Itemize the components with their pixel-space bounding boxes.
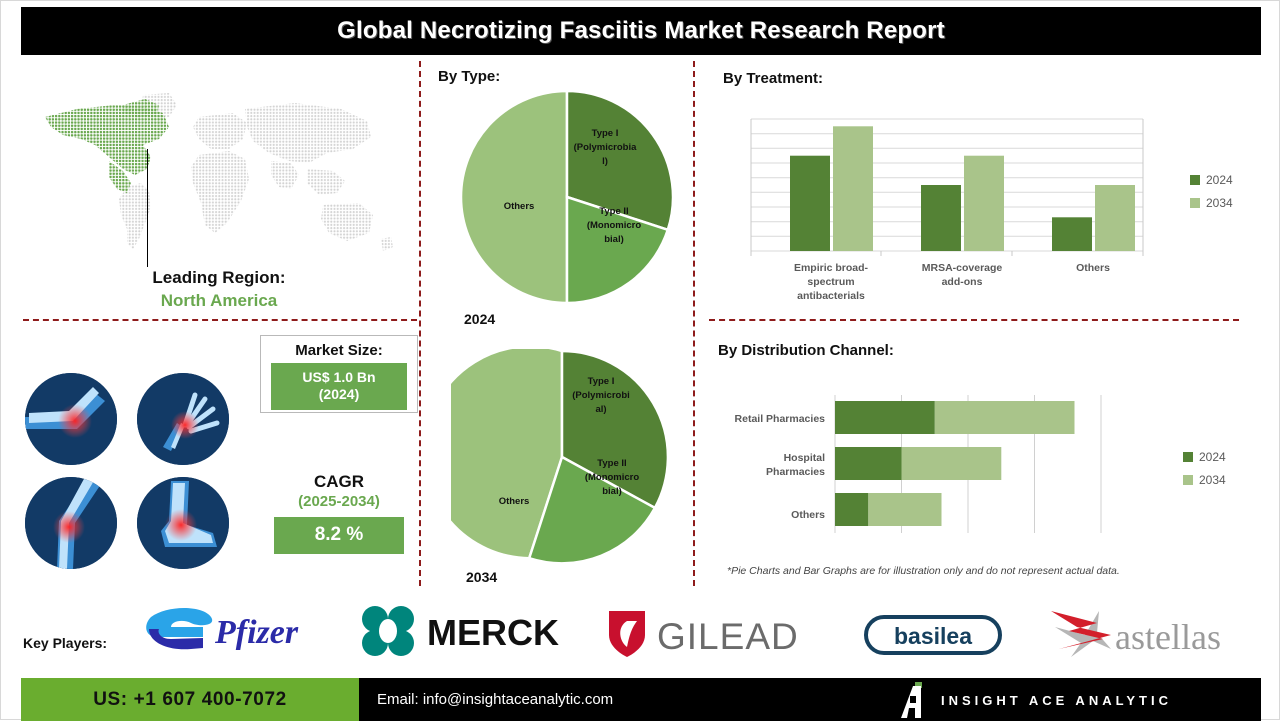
svg-text:bial): bial) [604,234,624,245]
svg-text:add-ons: add-ons [942,276,983,288]
divider-vertical-right [693,61,695,586]
elbow-joint-pain-icon [25,373,117,465]
logo-astellas: astellas [1041,605,1259,659]
infographic-page: Global Necrotizing Fasciitis Market Rese… [0,0,1280,720]
svg-text:Empiric broad-: Empiric broad- [794,262,869,274]
svg-text:Others: Others [499,496,530,507]
leading-region-block: Leading Region: North America [23,267,415,313]
brand-block: INSIGHT ACE ANALYTIC [901,682,1172,718]
svg-text:Retail Pharmacies: Retail Pharmacies [735,413,826,425]
knee-joint-pain-icon [25,477,117,569]
chart-footnote: *Pie Charts and Bar Graphs are for illus… [727,565,1120,577]
world-map-icon [23,83,415,269]
svg-text:l): l) [602,156,608,167]
bar-chart-by-treatment: Empiric broad- spectrum antibacterials M… [743,113,1153,303]
divider-horizontal-right [709,319,1239,321]
pie-chart-by-type-2024: Type I (Polymicrobia l) Type II (Monomic… [459,89,675,305]
logo-basilea: basilea [863,613,1003,657]
svg-text:Hospital: Hospital [784,452,826,464]
svg-text:(Polymicrobi: (Polymicrobi [572,390,630,401]
footer-phone: US: +1 607 400-7072 [93,689,287,711]
market-size-year: (2024) [271,386,407,403]
map-leader-line [147,149,148,267]
svg-text:antibacterials: antibacterials [797,290,865,302]
svg-text:spectrum: spectrum [807,276,854,288]
page-title: Global Necrotizing Fasciitis Market Rese… [337,17,945,45]
svg-text:GILEAD: GILEAD [657,616,799,657]
brand-name: INSIGHT ACE ANALYTIC [941,693,1172,708]
pie-year-2024: 2024 [464,311,495,327]
legend-item-2034: 2034 [1190,196,1233,210]
legend-by-distribution: 2024 2034 [1183,450,1226,496]
leading-region-value: North America [23,289,415,313]
bar-chart-by-distribution: Retail Pharmacies Hospital Pharmacies Ot… [701,391,1121,541]
pie-chart-by-type-2034: Type I (Polymicrobi al) Type II (Monomic… [451,349,673,565]
legend-swatch-2024 [1190,175,1200,185]
joint-illustrations [25,373,239,569]
leading-region-label: Leading Region: [23,267,415,289]
legend-item-2024: 2024 [1190,173,1233,187]
svg-text:MRSA-coverage: MRSA-coverage [922,262,1003,274]
svg-text:Type I: Type I [592,128,619,139]
insight-ace-a-logo [901,682,927,718]
legend-item-2024: 2024 [1183,450,1226,464]
market-size-amount: US$ 1.0 Bn [271,369,407,386]
market-size-card: Market Size: US$ 1.0 Bn (2024) [260,335,418,413]
svg-text:Type II: Type II [597,458,626,469]
svg-text:Others: Others [791,509,825,521]
svg-text:(Polymicrobia: (Polymicrobia [574,142,638,153]
cagr-years: (2025-2034) [260,492,418,512]
svg-text:Type II: Type II [599,206,628,217]
hand-joint-pain-icon [137,373,229,465]
divider-horizontal-left [23,319,417,321]
svg-text:Type I: Type I [588,376,615,387]
market-size-label: Market Size: [261,341,417,360]
legend-item-2034: 2034 [1183,473,1226,487]
legend-swatch-2024 [1183,452,1193,462]
logo-gilead: GILEAD [601,607,813,659]
svg-text:(Monomicro: (Monomicro [585,472,640,483]
svg-text:astellas: astellas [1115,617,1221,657]
legend-swatch-2034 [1190,198,1200,208]
svg-text:Others: Others [1076,262,1110,274]
legend-label-2034: 2034 [1199,473,1226,487]
section-title-by-type: By Type: [438,68,500,85]
svg-text:Pfizer: Pfizer [214,614,299,651]
key-players-label: Key Players: [23,635,107,651]
logo-pfizer: Pfizer [141,603,331,659]
report-header: Global Necrotizing Fasciitis Market Rese… [21,7,1261,55]
svg-text:Others: Others [504,201,535,212]
cagr-value: 8.2 % [274,517,404,554]
legend-label-2034: 2034 [1206,196,1233,210]
svg-text:MERCK: MERCK [427,612,559,653]
divider-vertical-left [419,61,421,586]
footer-email: Email: info@insightaceanalytic.com [377,691,613,708]
section-title-by-distribution: By Distribution Channel: [718,342,894,359]
ankle-joint-pain-icon [137,477,229,569]
footer-phone-band: US: +1 607 400-7072 [21,678,359,721]
svg-text:(Monomicro: (Monomicro [587,220,642,231]
legend-swatch-2034 [1183,475,1193,485]
market-size-value: US$ 1.0 Bn (2024) [271,363,407,410]
section-title-by-treatment: By Treatment: [723,70,823,87]
legend-label-2024: 2024 [1206,173,1233,187]
logo-merck: MERCK [349,605,567,657]
svg-text:Pharmacies: Pharmacies [766,466,825,478]
cagr-card: CAGR (2025-2034) 8.2 % [260,471,418,554]
pie-year-2034: 2034 [466,569,497,585]
legend-label-2024: 2024 [1199,450,1226,464]
legend-by-treatment: 2024 2034 [1190,173,1233,219]
svg-text:basilea: basilea [894,623,972,649]
svg-text:al): al) [595,404,606,415]
cagr-label: CAGR [260,471,418,492]
svg-text:bial): bial) [602,486,622,497]
